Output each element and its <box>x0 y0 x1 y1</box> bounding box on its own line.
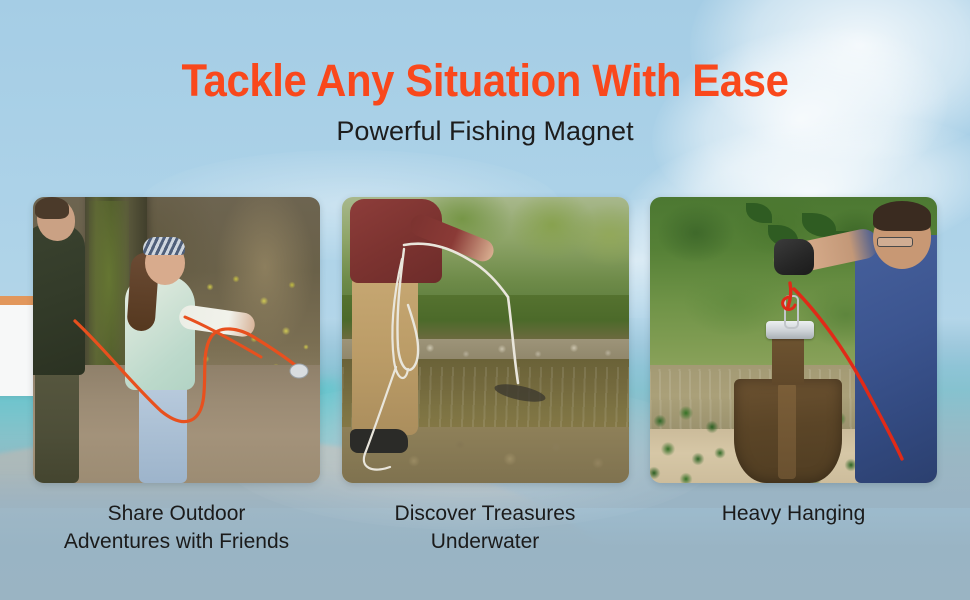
photo2-white-rope <box>342 197 629 483</box>
feature-caption: Discover Treasures Underwater <box>342 500 629 556</box>
feature-photo-heavy-hanging <box>650 197 937 483</box>
feature-caption: Heavy Hanging <box>650 500 937 528</box>
photo1-orange-rope <box>33 197 320 483</box>
product-feature-banner: Tackle Any Situation With Ease Powerful … <box>0 0 970 600</box>
feature-caption: Share Outdoor Adventures with Friends <box>33 500 320 556</box>
feature-card: Discover Treasures Underwater <box>342 197 629 556</box>
feature-photo-discover-treasures-underwater <box>342 197 629 483</box>
feature-card: Heavy Hanging <box>650 197 937 556</box>
banner-heading-group: Tackle Any Situation With Ease Powerful … <box>0 56 970 147</box>
page-subtitle: Powerful Fishing Magnet <box>0 115 970 147</box>
feature-card: Share Outdoor Adventures with Friends <box>33 197 320 556</box>
feature-photo-share-outdoor-adventures <box>33 197 320 483</box>
photo3-red-rope <box>650 197 937 483</box>
feature-card-row: Share Outdoor Adventures with Friends <box>33 197 937 556</box>
page-title: Tackle Any Situation With Ease <box>34 56 936 106</box>
